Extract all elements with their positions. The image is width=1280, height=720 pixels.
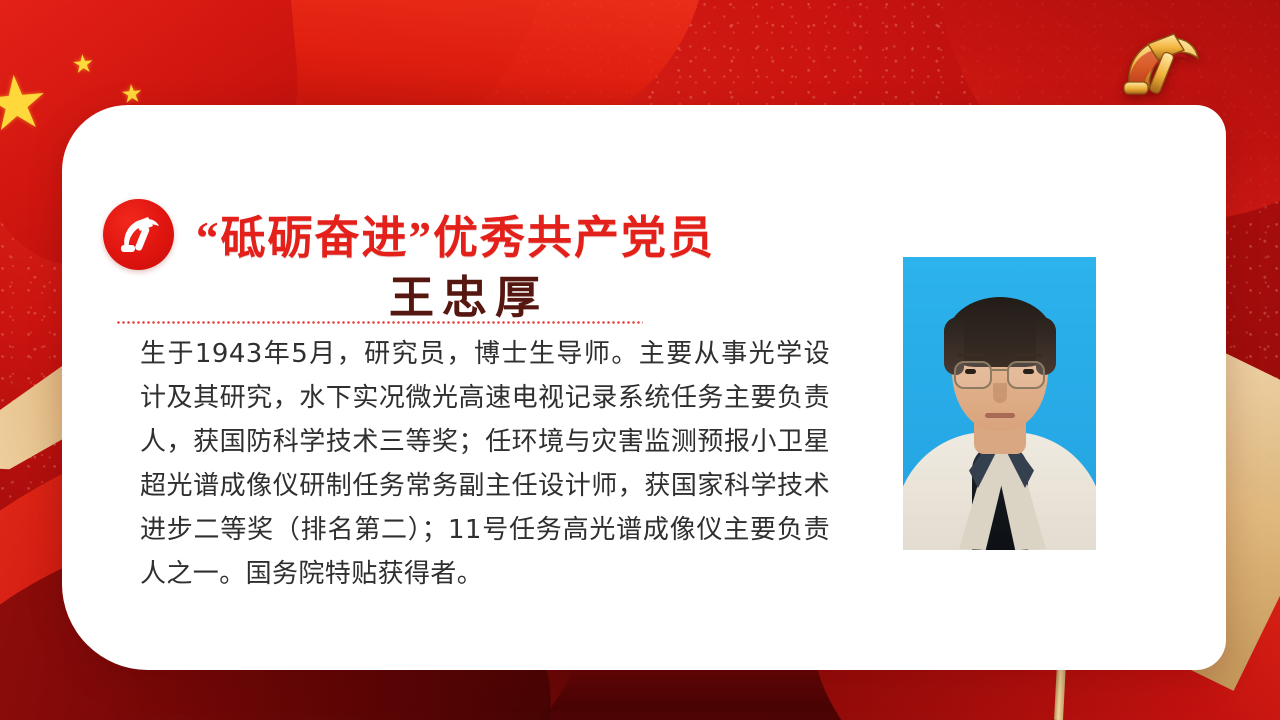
portrait-mouth [985,413,1015,418]
portrait-glasses-left-lens [954,361,992,389]
gold-hammer-sickle-icon [1102,22,1222,108]
portrait-glasses-right-lens [1007,361,1045,389]
party-emblem-hammer-sickle-icon [103,199,174,270]
portrait-eyebrow-left [957,353,985,357]
portrait-eye-left [965,369,976,374]
portrait-nose [993,383,1007,403]
biography-text: 生于1943年5月，研究员，博士生导师。主要从事光学设计及其研究，水下实况微光高… [140,332,830,596]
page-title: “砥砺奋进”优秀共产党员 [196,201,715,266]
portrait-eyebrow-right [1014,353,1042,357]
person-name: 王忠厚 [389,261,548,326]
slide-canvas: ★ ★ ★ ★ ★ [0,0,1280,720]
portrait-eye-right [1023,369,1034,374]
portrait-glasses-bridge [992,369,1008,371]
dotted-divider [116,321,643,324]
person-portrait-photo [903,257,1096,550]
flag-star-large: ★ [0,64,52,144]
flag-star-small-1: ★ [71,51,96,78]
